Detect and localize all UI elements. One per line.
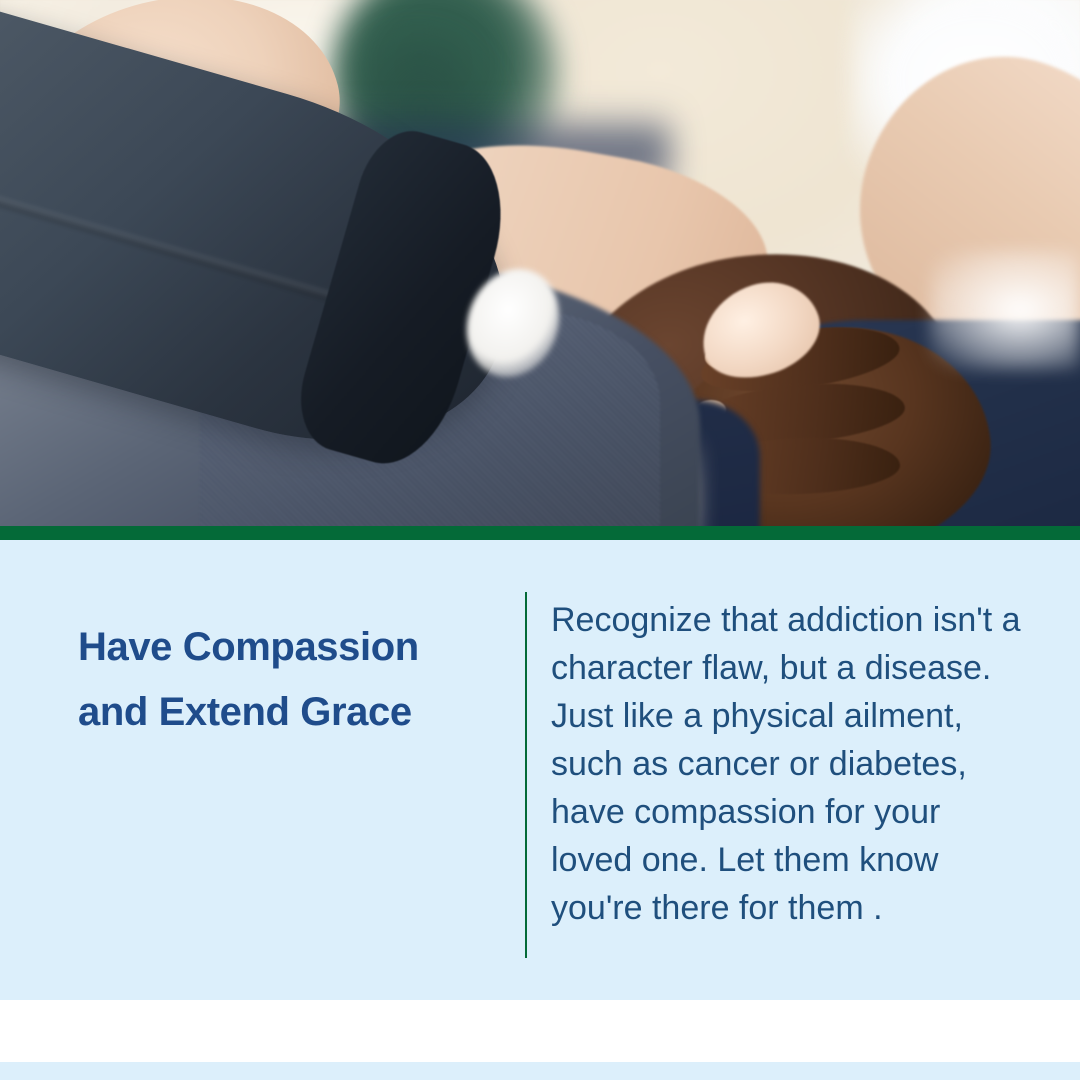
card-body-text: Recognize that addiction isn't a charact… (551, 596, 1021, 932)
hero-photo (0, 0, 1080, 526)
bottom-blue-band (0, 1062, 1080, 1080)
card-headline: Have Compassion and Extend Grace (78, 615, 478, 745)
green-divider-bar (0, 526, 1080, 540)
bottom-white-band (0, 1000, 1080, 1062)
social-card: Have Compassion and Extend Grace Recogni… (0, 0, 1080, 1080)
vertical-rule-divider (525, 592, 527, 958)
photo-white-blur-right (930, 250, 1080, 370)
content-panel: Have Compassion and Extend Grace Recogni… (0, 540, 1080, 1000)
